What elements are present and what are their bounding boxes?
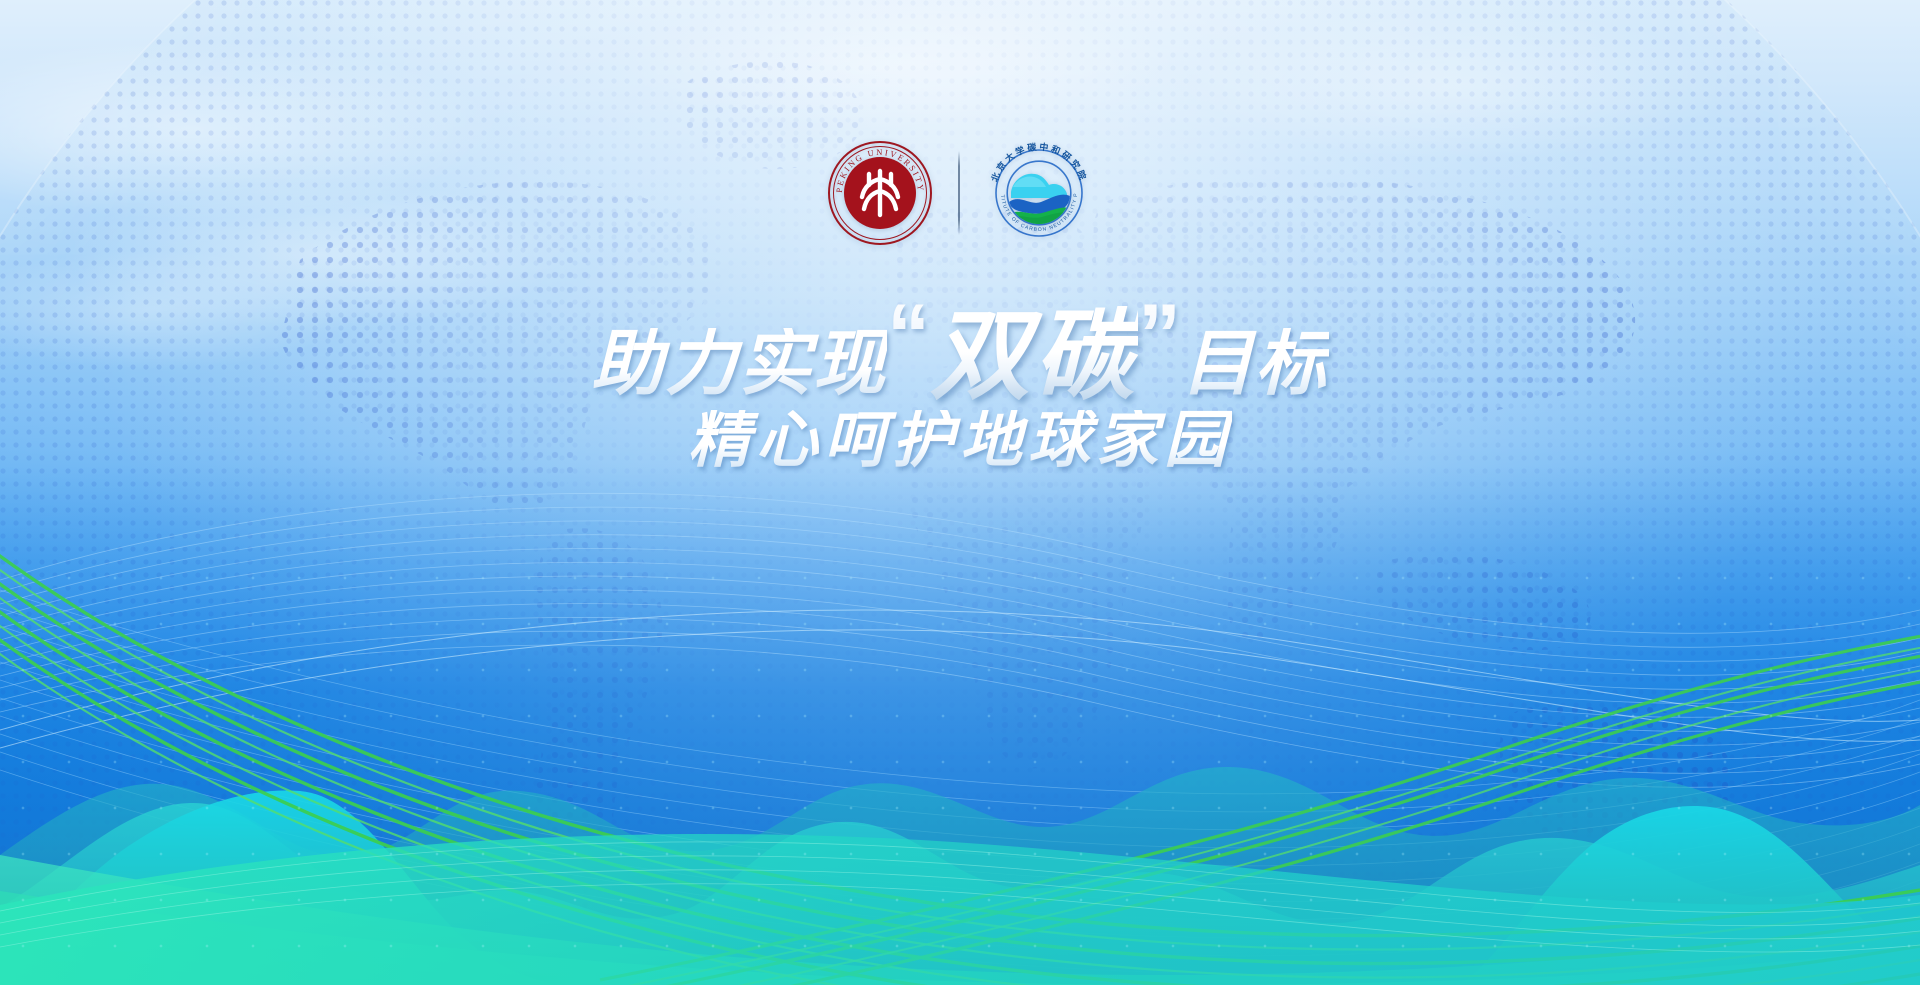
- logo-row: PEKING UNIVERSITY 1898: [0, 140, 1920, 246]
- peking-university-seal-icon: PEKING UNIVERSITY 1898: [828, 141, 932, 245]
- headline-line-2: 精心呵护地球家园: [0, 410, 1920, 472]
- headline-suffix: 目标: [1181, 328, 1329, 400]
- headline-emphasis: 双碳: [930, 306, 1138, 406]
- quote-close: ”: [1138, 292, 1181, 378]
- logo-divider: [958, 151, 960, 235]
- headline: 助力实现 “ 双碳 ” 目标 精心呵护地球家园: [0, 288, 1920, 472]
- headline-line-1: 助力实现 “ 双碳 ” 目标: [0, 288, 1920, 400]
- quote-open: “: [887, 292, 930, 378]
- pku-logo[interactable]: PEKING UNIVERSITY 1898: [828, 141, 932, 245]
- icn-logo[interactable]: 北京大学碳中和研究院 INSTITUTE OF CARBON NEUTRALIT…: [986, 140, 1092, 246]
- headline-prefix: 助力实现: [591, 328, 887, 400]
- headline-line-2-text: 精心呵护地球家园: [688, 410, 1232, 472]
- poster-canvas: PEKING UNIVERSITY 1898: [0, 0, 1920, 985]
- institute-of-carbon-neutrality-seal-icon: 北京大学碳中和研究院 INSTITUTE OF CARBON NEUTRALIT…: [986, 140, 1092, 246]
- wave-icon: [0, 785, 1920, 985]
